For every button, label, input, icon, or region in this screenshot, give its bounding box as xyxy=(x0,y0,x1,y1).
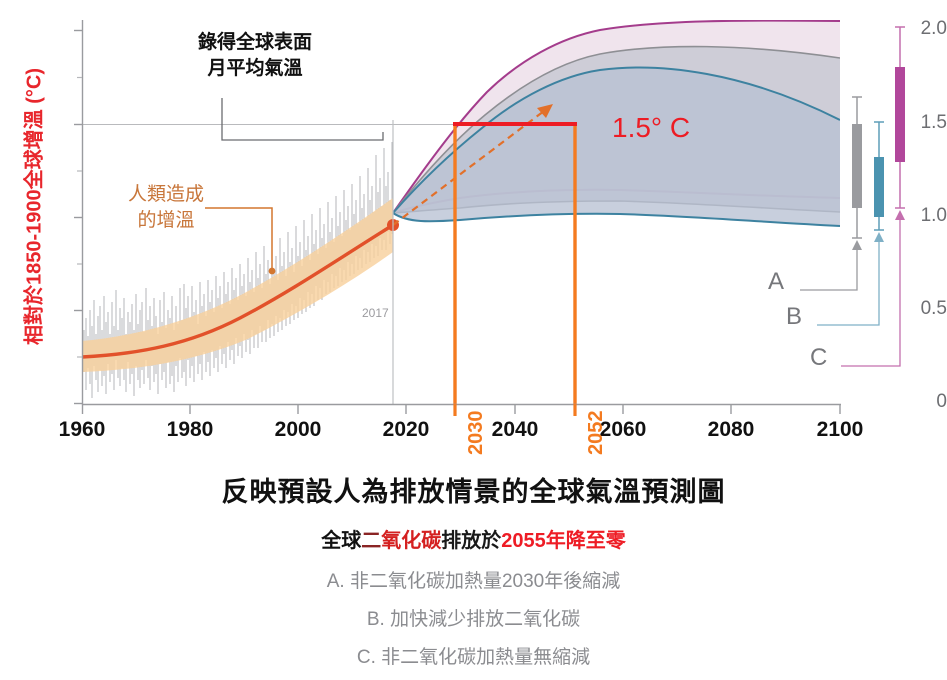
error-bar-b xyxy=(874,122,884,230)
annotation-observed-temperature: 錄得全球表面 月平均氣溫 xyxy=(140,30,370,81)
x-tick-2100: 2100 xyxy=(800,418,880,442)
subtitle-part-3: 氧化碳 xyxy=(381,530,441,552)
x-tick-2020: 2020 xyxy=(366,418,446,442)
y-tick-0: 0 xyxy=(901,391,947,413)
leader-a xyxy=(800,248,857,290)
x-tick-2080: 2080 xyxy=(691,418,771,442)
marker-label-a: A xyxy=(768,268,784,296)
leader-b-arrow xyxy=(874,232,884,242)
label-threshold-1.5c: 1.5° C xyxy=(612,112,690,144)
y-tick-0.5: 0.5 xyxy=(901,298,947,320)
label-year-2017: 2017 xyxy=(362,306,389,320)
legend-item-a: A. 非二氧化碳加熱量2030年後縮減 xyxy=(0,566,947,593)
annotation-human-line2: 的增溫 xyxy=(96,208,236,234)
chart-figure: 相對於1850-1900全球增溫 (°C) 2.0 1.5 1.0 0.5 0 … xyxy=(0,0,947,680)
marker-label-b: B xyxy=(786,303,802,331)
x-tick-2052-highlight: 2052 xyxy=(585,411,608,456)
chart-subtitle: 全球二氧化碳排放於2055年降至零 xyxy=(0,524,947,553)
subtitle-part-5: 2055年降至零 xyxy=(501,530,626,552)
annotation-observed-line2: 月平均氣溫 xyxy=(140,56,370,82)
subtitle-part-4: 排放於 xyxy=(441,530,501,552)
x-tick-2030-highlight: 2030 xyxy=(465,411,488,456)
annotation-human-line1: 人類造成 xyxy=(96,182,236,208)
annotation-human-warming: 人類造成 的增溫 xyxy=(96,182,236,233)
annotation-observed-line1: 錄得全球表面 xyxy=(140,30,370,56)
legend-item-c: C. 非二氧化碳加熱量無縮減 xyxy=(0,642,947,669)
subtitle-part-2: 二 xyxy=(361,530,381,552)
x-tick-1980: 1980 xyxy=(150,418,230,442)
axis-x-ticks xyxy=(83,404,841,414)
leader-a-arrow xyxy=(852,240,862,250)
y-tick-2.0: 2.0 xyxy=(901,18,947,40)
chart-title: 反映預設人為排放情景的全球氣溫預測圖 xyxy=(0,470,947,509)
leader-c xyxy=(841,218,900,366)
marker-label-c: C xyxy=(810,344,827,372)
legend-item-b: B. 加快減少排放二氧化碳 xyxy=(0,604,947,631)
y-axis-title: 相對於1850-1900全球增溫 (°C) xyxy=(18,7,47,407)
x-tick-1960: 1960 xyxy=(42,418,122,442)
subtitle-part-1: 全球 xyxy=(321,530,361,552)
error-bar-a xyxy=(852,97,862,238)
x-tick-2000: 2000 xyxy=(258,418,338,442)
leader-b xyxy=(817,240,879,325)
y-tick-1.5: 1.5 xyxy=(901,112,947,134)
y-tick-1.0: 1.0 xyxy=(901,205,947,227)
axis-y-ticks xyxy=(74,31,82,404)
annotation-human-leader-dot xyxy=(269,268,276,275)
annotation-observed-leader xyxy=(222,98,383,140)
